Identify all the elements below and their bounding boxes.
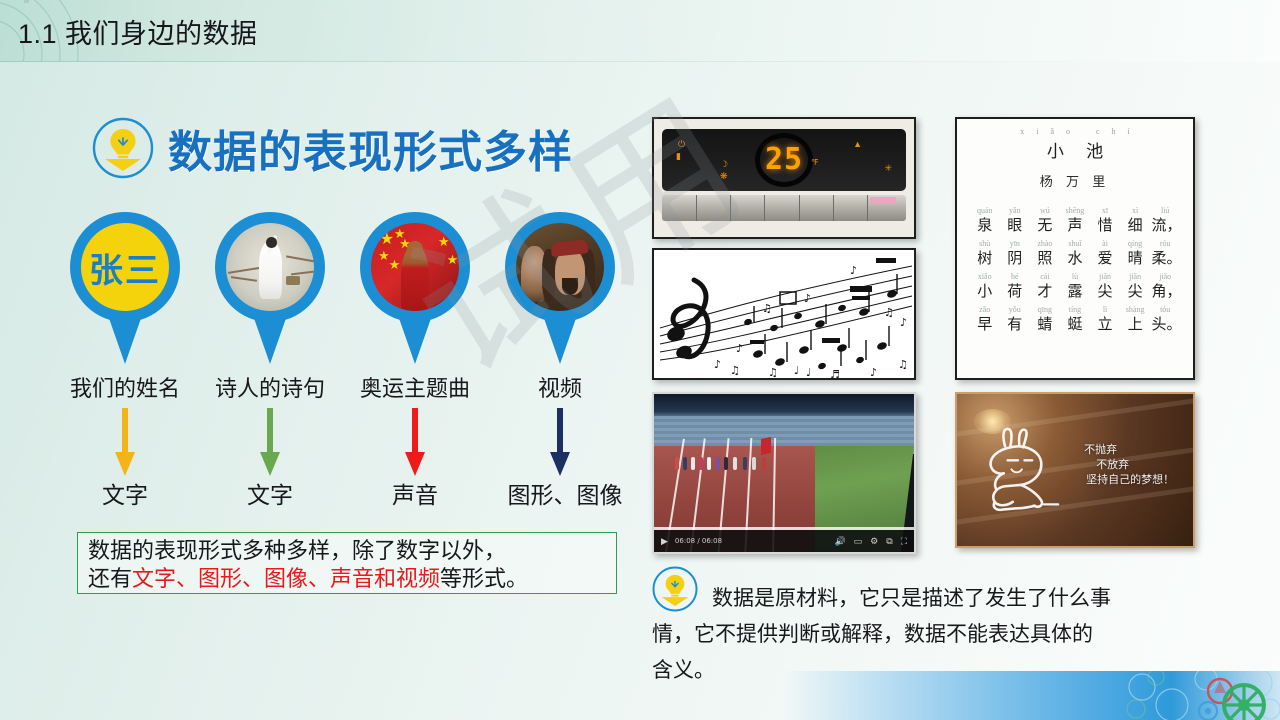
header-divider xyxy=(0,61,1280,62)
poem-char-row: 早 有 蜻 蜓 立 上 头。 xyxy=(967,313,1183,334)
page-title: 1.1 我们身边的数据 xyxy=(18,12,258,51)
char-cell: 尖 xyxy=(1091,280,1118,301)
char-cell: 细 xyxy=(1121,214,1148,235)
video-timestamp: 06:08 / 06:08 xyxy=(675,537,722,545)
char-cell: 上 xyxy=(1121,313,1148,334)
char-cell: 爱 xyxy=(1091,247,1118,268)
char-cell: 柔。 xyxy=(1151,247,1178,268)
output-sound: 声音 xyxy=(350,476,480,510)
poem-char-row: 小 荷 才 露 尖 尖 角， xyxy=(967,280,1183,301)
svg-text:♪: ♪ xyxy=(900,316,907,329)
char-cell: 角， xyxy=(1151,280,1178,301)
slide-header: 1.1 我们身边的数据 xyxy=(0,0,1280,62)
music-canvas: ♪♫♩ ♬♪♫ ♪♩♫ ♪♫♪ ♫♪ xyxy=(654,250,914,378)
output-text-name: 文字 xyxy=(60,476,190,510)
ac-unit-label: ℉ xyxy=(811,158,819,167)
svg-text:♪: ♪ xyxy=(850,264,857,277)
char-cell: 晴 xyxy=(1121,247,1148,268)
char-cell: 才 xyxy=(1031,280,1058,301)
pirates-movie-image xyxy=(516,223,604,311)
output-text-poem: 文字 xyxy=(205,476,335,510)
ac-display-image[interactable]: ⏻ ▮ ☽ ❋ ▲ ✳ 25 ℉ xyxy=(652,117,916,239)
olympic-flag-image: ★ ★ ★ ★ ★ ★ ★ xyxy=(371,223,459,311)
pin-label-row: 我们的姓名 诗人的诗句 奥运主题曲 视频 xyxy=(60,371,640,401)
char-cell: 流， xyxy=(1151,214,1178,235)
section-heading: 数据的表现形式多样 xyxy=(92,116,573,180)
poem-line: xiǎo hé cái lù jiān jiān jiǎo 小 荷 才 露 尖 … xyxy=(967,272,1183,301)
arrow-row xyxy=(60,408,640,480)
settings-gear-icon[interactable]: ⚙ xyxy=(870,537,878,546)
arrow-down-name-icon xyxy=(115,408,135,478)
bottom-note-line2: 情，它不提供判断或解释，数据不能表达具体的 xyxy=(652,616,1232,652)
svg-text:♪: ♪ xyxy=(714,358,721,371)
char-cell: 尖 xyxy=(1121,280,1148,301)
ac-power-icon: ⏻ xyxy=(678,139,685,150)
svg-text:♩: ♩ xyxy=(806,366,811,379)
poem-title: 小 池 xyxy=(967,137,1183,162)
section-heading-text: 数据的表现形式多样 xyxy=(168,116,573,180)
char-cell: 眼 xyxy=(1001,214,1028,235)
arrow-down-anthem-icon xyxy=(405,408,425,478)
char-cell: 声 xyxy=(1061,214,1088,235)
char-cell: 头。 xyxy=(1151,313,1178,334)
svg-text:♪: ♪ xyxy=(870,366,877,379)
char-cell: 蜓 xyxy=(1061,313,1088,334)
pin-label-anthem: 奥运主题曲 xyxy=(350,371,480,403)
ac-mode-icon: ▮ xyxy=(676,151,681,162)
volume-icon[interactable]: 🔊 xyxy=(834,537,845,546)
bottom-note-line1: 数据是原材料，它只是描述了发生了什么事 xyxy=(712,580,1232,616)
rabbit-outline-icon xyxy=(971,424,1070,521)
stadium-flag xyxy=(761,437,771,455)
rabbit-motivation-image[interactable]: 不抛弃 不放弃 坚持自己的梦想！ xyxy=(955,392,1195,548)
pin-poem[interactable] xyxy=(215,212,325,364)
poem-char-row: 泉 眼 无 声 惜 细 流， xyxy=(967,214,1183,235)
conclusion-line-2: 还有文字、图形、图像、声音和视频等形式。 xyxy=(88,565,608,593)
char-cell: 有 xyxy=(1001,313,1028,334)
svg-text:♪: ♪ xyxy=(736,342,743,355)
conclusion-line-1: 数据的表现形式多种多样，除了数字以外， xyxy=(88,537,608,565)
ac-swing-icon: ▲ xyxy=(853,139,862,149)
video-player-image[interactable]: ▶ 06:08 / 06:08 🔊 ▭ ⚙ ⧉ ⛶ xyxy=(652,392,916,554)
char-cell: 惜 xyxy=(1091,214,1118,235)
conclusion-line2-highlight: 文字、图形、图像、声音和视频 xyxy=(132,566,440,591)
char-cell: 阴 xyxy=(1001,247,1028,268)
output-row: 文字 文字 声音 图形、图像 xyxy=(60,476,640,508)
arrow-down-poem-icon xyxy=(260,408,280,478)
svg-text:♫: ♫ xyxy=(730,364,740,377)
pin-face-olympic: ★ ★ ★ ★ ★ ★ ★ xyxy=(371,223,459,311)
char-cell: 小 xyxy=(971,280,998,301)
poem-line: zǎo yǒu qīng tíng lì shàng tóu 早 有 蜻 蜓 立… xyxy=(967,305,1183,334)
svg-text:♬: ♬ xyxy=(830,368,840,380)
char-cell: 树 xyxy=(971,247,998,268)
pin-label-name: 我们的姓名 xyxy=(60,371,190,403)
char-cell: 立 xyxy=(1091,313,1118,334)
ac-sticker xyxy=(870,197,896,204)
svg-text:♫: ♫ xyxy=(762,302,772,315)
pin-anthem[interactable]: ★ ★ ★ ★ ★ ★ ★ xyxy=(360,212,470,364)
poem-char-row: 树 阴 照 水 爱 晴 柔。 xyxy=(967,247,1183,268)
svg-text:♫: ♫ xyxy=(768,366,778,379)
ac-panel: ⏻ ▮ ☽ ❋ ▲ ✳ 25 ℉ xyxy=(662,129,906,191)
lightbulb-book-icon xyxy=(92,117,154,179)
char-cell: 荷 xyxy=(1001,280,1028,301)
svg-text:♫: ♫ xyxy=(884,306,894,319)
rabbit-slogan-line2: 不放弃 xyxy=(1084,458,1174,473)
svg-text:♩: ♩ xyxy=(794,364,799,377)
char-cell: 早 xyxy=(971,313,998,334)
poem-body: quán yǎn wú shēng xī xì liú 泉 眼 无 声 惜 细 … xyxy=(967,206,1183,334)
poem-author: 杨 万 里 xyxy=(967,171,1183,190)
ac-body: ⏻ ▮ ☽ ❋ ▲ ✳ 25 ℉ xyxy=(654,119,914,237)
pin-face-movie xyxy=(516,223,604,311)
rabbit-canvas: 不抛弃 不放弃 坚持自己的梦想！ xyxy=(957,394,1193,546)
play-icon[interactable]: ▶ xyxy=(661,537,668,546)
output-graphic: 图形、图像 xyxy=(490,476,640,510)
ac-temperature-value: 25 xyxy=(765,142,803,177)
stadium-crowd xyxy=(670,448,805,470)
svg-text:♪: ♪ xyxy=(804,292,811,305)
char-cell: 露 xyxy=(1061,280,1088,301)
poem-line: quán yǎn wú shēng xī xì liú 泉 眼 无 声 惜 细 … xyxy=(967,206,1183,235)
char-cell: 照 xyxy=(1031,247,1058,268)
poem-line: shù yīn zhào shuǐ ài qíng róu 树 阴 照 水 爱 … xyxy=(967,239,1183,268)
char-cell: 水 xyxy=(1061,247,1088,268)
bottom-note-line3: 含义。 xyxy=(652,652,1232,688)
rabbit-slogan-line3: 坚持自己的梦想！ xyxy=(1084,473,1174,488)
fullscreen-icon[interactable]: ⛶ xyxy=(901,537,907,546)
music-staff-svg: ♪♫♩ ♬♪♫ ♪♩♫ ♪♫♪ ♫♪ xyxy=(654,250,916,380)
poem-title-pinyin: xiǎo chí xyxy=(967,127,1183,136)
poem-image[interactable]: xiǎo chí 小 池 杨 万 里 quán yǎn wú shēng xī … xyxy=(955,117,1195,380)
poem-sheet: xiǎo chí 小 池 杨 万 里 quán yǎn wú shēng xī … xyxy=(957,119,1193,378)
char-cell: 蜻 xyxy=(1031,313,1058,334)
arrow-down-video-icon xyxy=(550,408,570,478)
pin-name[interactable]: 张三 xyxy=(70,212,180,364)
conclusion-box: 数据的表现形式多种多样，除了数字以外， 还有文字、图形、图像、声音和视频等形式。 xyxy=(77,532,617,594)
video-control-bar[interactable]: ▶ 06:08 / 06:08 🔊 ▭ ⚙ ⧉ ⛶ xyxy=(654,530,914,552)
pin-video[interactable] xyxy=(505,212,615,364)
poet-painting-image xyxy=(226,223,314,311)
pin-face-poet xyxy=(226,223,314,311)
pin-label-poem: 诗人的诗句 xyxy=(205,371,335,403)
rabbit-slogan: 不抛弃 不放弃 坚持自己的梦想！ xyxy=(1084,443,1174,488)
ac-button-strip[interactable] xyxy=(662,195,906,221)
svg-text:♫: ♫ xyxy=(898,358,908,371)
pin-label-video: 视频 xyxy=(495,371,625,403)
lightbulb-book-icon xyxy=(652,566,698,612)
music-notes-image[interactable]: ♪♫♩ ♬♪♫ ♪♩♫ ♪♫♪ ♫♪ xyxy=(652,248,916,380)
char-cell: 泉 xyxy=(971,214,998,235)
char-cell: 无 xyxy=(1031,214,1058,235)
ac-snow-icon: ✳ xyxy=(884,163,892,174)
conclusion-line2-pre: 还有 xyxy=(88,566,132,591)
ac-sleep-icon: ☽ xyxy=(720,159,728,170)
subtitles-icon[interactable]: ▭ xyxy=(854,537,863,546)
ac-fan-icon: ❋ xyxy=(720,171,728,182)
video-right-controls: 🔊 ▭ ⚙ ⧉ ⛶ xyxy=(834,537,907,546)
bottom-note: 数据是原材料，它只是描述了发生了什么事 情，它不提供判断或解释，数据不能表达具体… xyxy=(712,580,1232,688)
conclusion-line2-post: 等形式。 xyxy=(440,566,528,591)
miniplayer-icon[interactable]: ⧉ xyxy=(886,537,892,546)
pin-group: 张三 ★ ★ ★ ★ ★ xyxy=(60,212,640,387)
rabbit-slogan-line1: 不抛弃 xyxy=(1084,443,1174,458)
pin-face-name: 张三 xyxy=(81,223,169,311)
video-canvas: ▶ 06:08 / 06:08 🔊 ▭ ⚙ ⧉ ⛶ xyxy=(654,394,914,552)
